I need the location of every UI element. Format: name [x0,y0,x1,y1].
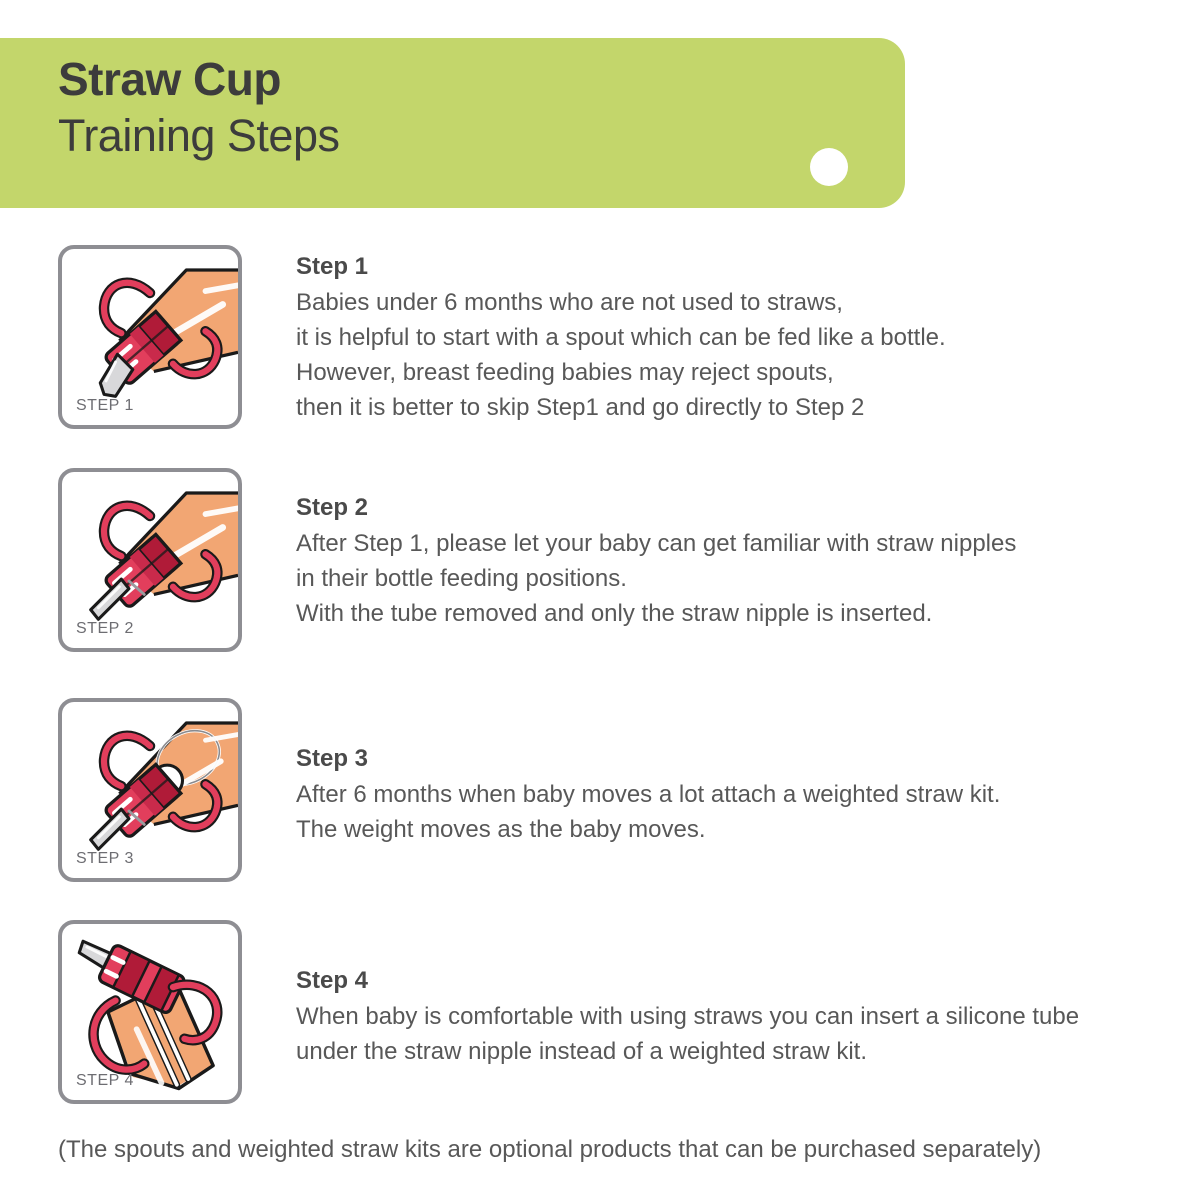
step-heading-3: Step 3 [296,743,1156,775]
step-text-block-3: Step 3 After 6 months when baby moves a … [296,743,1156,847]
step-line: However, breast feeding babies may rejec… [296,355,1156,390]
header-banner: Straw Cup Training Steps [0,38,905,208]
page-title: Straw Cup [58,52,281,106]
step-card-label-4: STEP 4 [76,1072,134,1090]
step-line: in their bottle feeding positions. [296,561,1156,596]
step-heading-1: Step 1 [296,251,1156,283]
step-card-label-1: STEP 1 [76,397,134,415]
step-line: With the tube removed and only the straw… [296,596,1156,631]
step-text-block-1: Step 1 Babies under 6 months who are not… [296,251,1156,425]
step-heading-4: Step 4 [296,965,1156,997]
step-line: When baby is comfortable with using stra… [296,999,1156,1034]
footer-note: (The spouts and weighted straw kits are … [58,1136,1041,1164]
step-illustration-card-4: STEP 4 [58,920,242,1104]
step-line: Babies under 6 months who are not used t… [296,285,1156,320]
step-text-block-4: Step 4 When baby is comfortable with usi… [296,965,1156,1069]
step-line: then it is better to skip Step1 and go d… [296,390,1156,425]
step-card-label-3: STEP 3 [76,850,134,868]
step-heading-2: Step 2 [296,492,1156,524]
step-line: under the straw nipple instead of a weig… [296,1034,1156,1069]
step-line: The weight moves as the baby moves. [296,812,1156,847]
step-line: After 6 months when baby moves a lot att… [296,777,1156,812]
punch-hole-icon [810,148,848,186]
step-card-label-2: STEP 2 [76,620,134,638]
page-subtitle: Training Steps [58,110,339,162]
step-illustration-card-2: STEP 2 [58,468,242,652]
step-line: it is helpful to start with a spout whic… [296,320,1156,355]
step-illustration-card-1: STEP 1 [58,245,242,429]
step-line: After Step 1, please let your baby can g… [296,526,1156,561]
step-illustration-card-3: STEP 3 [58,698,242,882]
step-text-block-2: Step 2 After Step 1, please let your bab… [296,492,1156,631]
